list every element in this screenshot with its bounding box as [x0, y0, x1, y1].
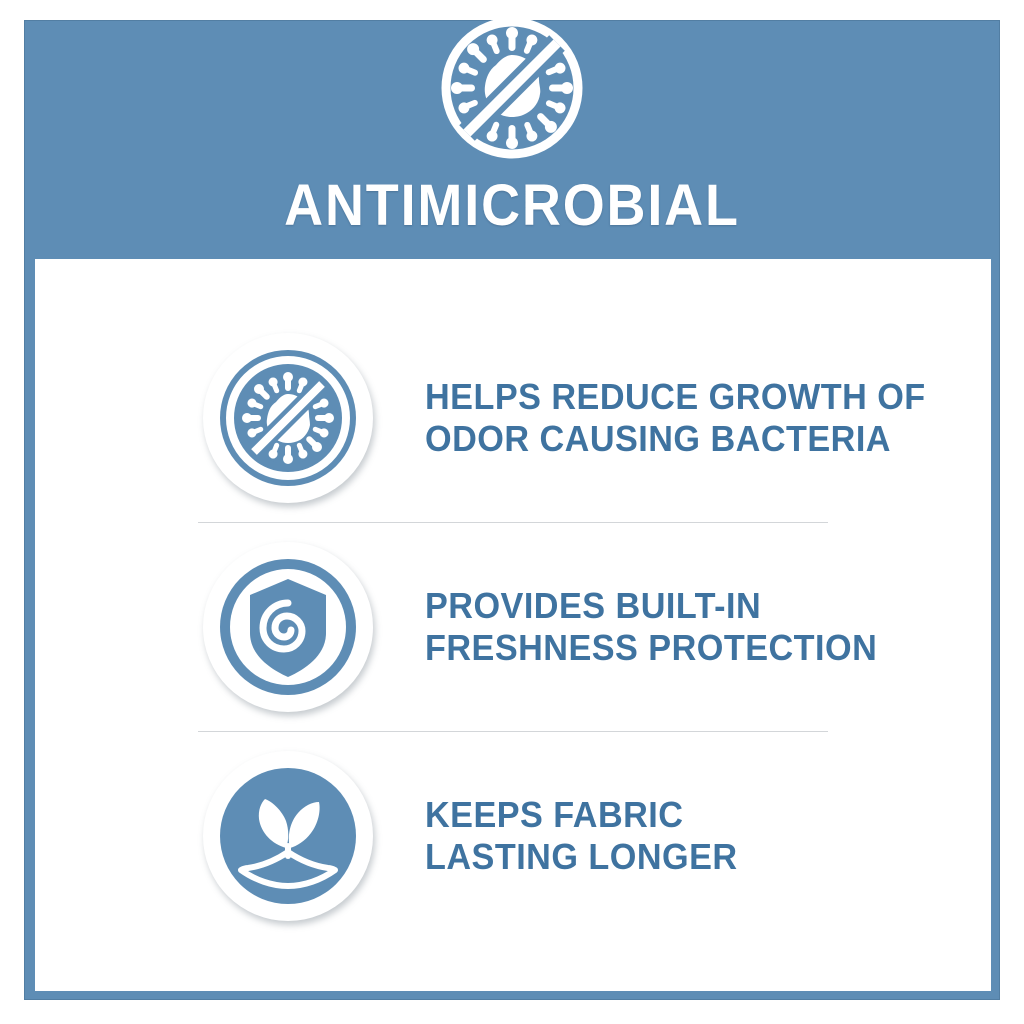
leaf-sprout-icon: [203, 751, 373, 921]
feature-row: HELPS REDUCE GROWTH OF ODOR CAUSING BACT…: [35, 314, 991, 522]
feature-label-line1: KEEPS FABRIC: [425, 794, 683, 835]
feature-label-line2: ODOR CAUSING BACTERIA: [425, 418, 926, 460]
feature-label-line2: LASTING LONGER: [425, 836, 738, 878]
header-banner: ANTIMICROBIAL: [25, 21, 999, 259]
feature-label: KEEPS FABRIC LASTING LONGER: [425, 794, 738, 879]
feature-label-line2: FRESHNESS PROTECTION: [425, 627, 877, 669]
no-germs-icon: [203, 333, 373, 503]
feature-row: KEEPS FABRIC LASTING LONGER: [35, 732, 991, 940]
page-title: ANTIMICROBIAL: [284, 177, 740, 235]
shield-freshness-icon: [203, 542, 373, 712]
feature-label: HELPS REDUCE GROWTH OF ODOR CAUSING BACT…: [425, 376, 926, 461]
features-card: HELPS REDUCE GROWTH OF ODOR CAUSING BACT…: [35, 259, 991, 991]
blue-frame-panel: ANTIMICROBIAL: [24, 20, 1000, 1000]
feature-row: PROVIDES BUILT-IN FRESHNESS PROTECTION: [35, 523, 991, 731]
feature-label-line1: PROVIDES BUILT-IN: [425, 585, 761, 626]
feature-label-line1: HELPS REDUCE GROWTH OF: [425, 376, 926, 417]
no-germs-icon: [437, 13, 587, 163]
feature-label: PROVIDES BUILT-IN FRESHNESS PROTECTION: [425, 585, 877, 670]
antimicrobial-infographic: ANTIMICROBIAL: [0, 0, 1024, 1024]
